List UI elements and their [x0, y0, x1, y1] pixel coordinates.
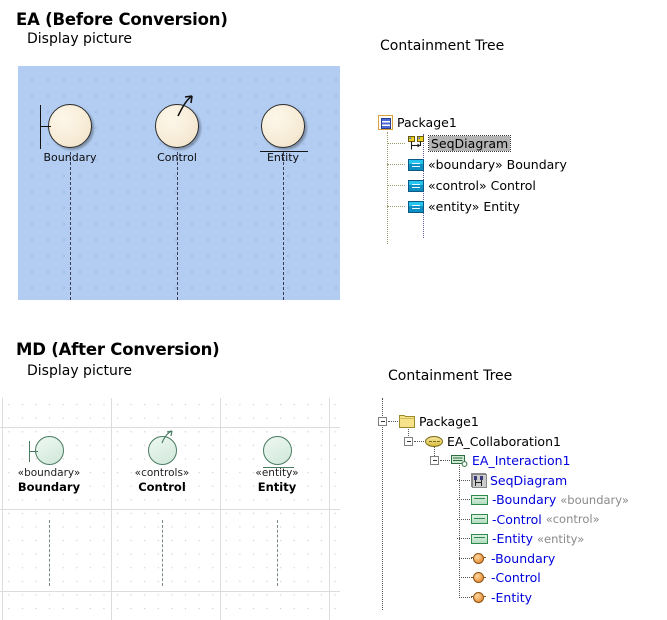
md-tree-branch-line [388, 421, 398, 422]
md-tree-node-prop-entity-label: -Entity [492, 531, 533, 546]
entity-bar-icon [263, 467, 294, 468]
ea-actor-control-label: Control [127, 151, 227, 164]
ea-containment-tree-title: Containment Tree [380, 38, 504, 54]
md-tree-node-prop-boundary-stereotype: «boundary» [560, 493, 629, 507]
md-display-picture-label: Display picture [27, 363, 132, 379]
md-tree-node-prop-boundary[interactable]: -Boundary «boundary» [378, 490, 629, 510]
ea-actor-control[interactable]: Control [127, 104, 227, 164]
property-icon [471, 514, 488, 524]
md-tree-node-lifeline-control[interactable]: -Control [378, 568, 629, 588]
ea-actor-boundary-label: Boundary [20, 151, 120, 164]
collaboration-icon [425, 436, 443, 447]
ea-tree-node-seqdiagram[interactable]: SeqDiagram [378, 133, 567, 154]
ea-class-icon [408, 159, 424, 171]
md-tree-branch-line [457, 499, 470, 500]
md-actor-boundary-label: Boundary [0, 480, 109, 494]
md-actor-entity-label: Entity [217, 480, 337, 494]
md-actor-boundary-stereotype: «boundary» [0, 467, 109, 479]
md-tree-node-lifeline-entity-label: -Entity [491, 590, 532, 605]
md-tree-branch-line [440, 460, 450, 461]
control-arrow-icon [160, 429, 178, 445]
md-lifeline-boundary [49, 520, 50, 586]
boundary-circle-icon [35, 436, 64, 465]
md-sequence-diagram-icon [471, 473, 486, 487]
md-tree-node-package1-label: Package1 [419, 414, 479, 429]
md-tree-node-collaboration[interactable]: EA_Collaboration1 [378, 432, 629, 452]
ea-sequence-diagram-canvas[interactable]: Boundary Control Entity [18, 66, 340, 300]
lifeline-icon [473, 592, 484, 603]
boundary-bar-icon [40, 105, 41, 149]
ea-tree-branch-line [387, 143, 405, 144]
md-tree-node-prop-entity-stereotype: «entity» [537, 532, 584, 546]
md-actor-control-label: Control [102, 480, 222, 494]
md-tree-node-lifeline-boundary-label: -Boundary [491, 551, 555, 566]
ea-tree-node-control-stereotype: «control» [428, 178, 487, 193]
entity-circle-icon [263, 436, 292, 465]
entity-bar-icon [260, 151, 308, 152]
ea-containment-tree[interactable]: Package1 SeqDiagram «boundary» Boundary … [378, 112, 567, 217]
ea-class-icon [408, 201, 424, 213]
ea-tree-node-boundary[interactable]: «boundary» Boundary [378, 154, 567, 175]
ea-actor-entity[interactable]: Entity [233, 104, 333, 164]
collapse-toggle-icon[interactable] [378, 417, 387, 426]
md-tree-node-prop-control-label: -Control [492, 512, 542, 527]
md-containment-tree[interactable]: Package1 EA_Collaboration1 EA_Interactio… [378, 412, 629, 607]
md-lifeline-control [162, 520, 163, 586]
ea-tree-node-boundary-label: Boundary [507, 157, 567, 172]
ea-lifeline-entity [283, 152, 284, 300]
boundary-bar-icon [29, 441, 30, 462]
control-arrow-icon [176, 94, 202, 118]
ea-tree-node-entity[interactable]: «entity» Entity [378, 196, 567, 217]
md-containment-tree-title: Containment Tree [388, 368, 512, 384]
md-tree-node-interaction[interactable]: EA_Interaction1 [378, 451, 629, 471]
md-tree-branch-line [414, 441, 424, 442]
md-tree-node-seqdiagram-label: SeqDiagram [490, 473, 567, 488]
md-tree-node-prop-control-stereotype: «control» [546, 512, 600, 526]
ea-tree-node-seqdiagram-label: SeqDiagram [429, 136, 510, 151]
ea-tree-node-package1[interactable]: Package1 [378, 112, 567, 133]
control-circle-icon [155, 104, 199, 148]
md-tree-node-interaction-label: EA_Interaction1 [472, 453, 570, 468]
ea-actor-boundary[interactable]: Boundary [20, 104, 120, 164]
md-tree-node-lifeline-control-label: -Control [491, 570, 541, 585]
ea-tree-branch-line [387, 185, 405, 186]
ea-lifeline-boundary [70, 152, 71, 300]
control-circle-icon [148, 436, 177, 465]
entity-circle-icon [261, 104, 305, 148]
md-tree-node-collaboration-label: EA_Collaboration1 [447, 434, 561, 449]
md-tree-node-seqdiagram[interactable]: SeqDiagram [378, 471, 629, 491]
lifeline-icon [473, 553, 484, 564]
ea-tree-branch-line [387, 206, 405, 207]
lifeline-icon [473, 572, 484, 583]
ea-tree-node-entity-stereotype: «entity» [428, 199, 479, 214]
ea-tree-branch-line [387, 164, 405, 165]
md-sequence-diagram-canvas[interactable]: «boundary» Boundary «controls» Control «… [0, 398, 340, 620]
md-actor-entity-stereotype: «entity» [217, 467, 337, 479]
ea-display-picture-label: Display picture [27, 31, 132, 47]
md-tree-node-prop-boundary-label: -Boundary [492, 492, 556, 507]
md-lifeline-entity [277, 520, 278, 586]
md-tree-node-package1[interactable]: Package1 [378, 412, 629, 432]
md-tree-branch-line [457, 519, 470, 520]
md-tree-node-prop-control[interactable]: -Control «control» [378, 510, 629, 530]
ea-tree-node-control-label: Control [491, 178, 536, 193]
property-icon [471, 534, 488, 544]
ea-lifeline-control [177, 152, 178, 300]
collapse-toggle-icon[interactable] [430, 456, 439, 465]
md-actor-entity[interactable]: «entity» Entity [217, 436, 337, 494]
md-tree-branch-line [457, 480, 470, 481]
ea-tree-node-boundary-stereotype: «boundary» [428, 157, 503, 172]
ea-tree-node-control[interactable]: «control» Control [378, 175, 567, 196]
md-tree-node-prop-entity[interactable]: -Entity «entity» [378, 529, 629, 549]
md-actor-boundary[interactable]: «boundary» Boundary [0, 436, 109, 494]
boundary-circle-icon [48, 104, 92, 148]
folder-icon [399, 415, 415, 428]
md-actor-control[interactable]: «controls» Control [102, 436, 222, 494]
ea-class-icon [408, 180, 424, 192]
ea-actor-entity-label: Entity [233, 151, 333, 164]
collapse-toggle-icon[interactable] [404, 437, 413, 446]
ea-tree-node-entity-label: Entity [483, 199, 520, 214]
ea-package-icon [378, 115, 393, 130]
property-icon [471, 495, 488, 505]
ea-tree-node-package1-label: Package1 [397, 115, 457, 130]
md-tree-node-lifeline-boundary[interactable]: -Boundary [378, 549, 629, 569]
ea-sequence-diagram-icon [408, 136, 425, 151]
md-actor-control-stereotype: «controls» [102, 467, 222, 479]
md-tree-node-lifeline-entity[interactable]: -Entity [378, 588, 629, 608]
ea-section-title: EA (Before Conversion) [16, 10, 228, 29]
interaction-icon [451, 454, 468, 467]
md-section-title: MD (After Conversion) [16, 340, 219, 359]
md-tree-branch-line [457, 538, 470, 539]
